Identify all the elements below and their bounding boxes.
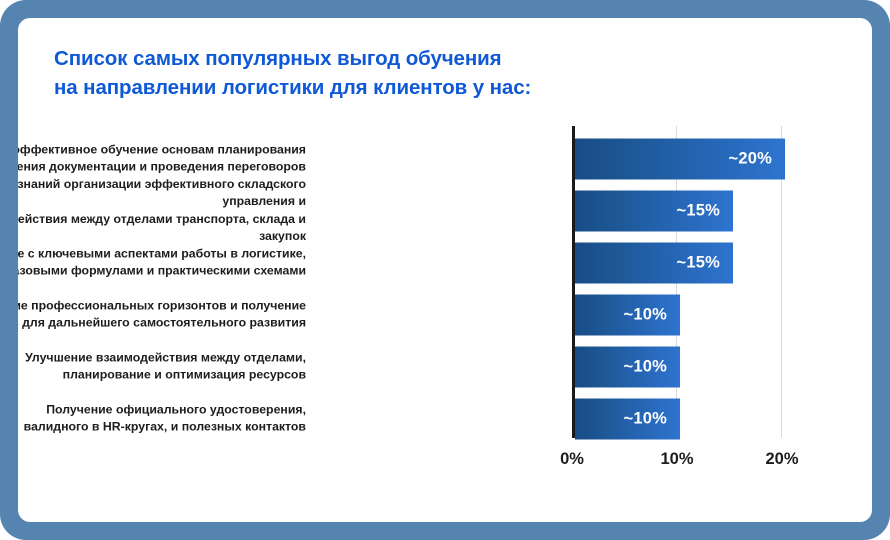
bar-category-label-line-2: планирование и оптимизация ресурсов	[63, 368, 306, 382]
bar-category-label-line-1: Ознакомление с ключевыми аспектами работ…	[18, 247, 306, 261]
x-tick-20: 20%	[765, 450, 798, 469]
chart-row: Получение официального удостоверения, ва…	[18, 393, 872, 445]
bar[interactable]: ~15%	[575, 243, 733, 284]
bar-category-label-line-2: валидного в HR-кругах, и полезных контак…	[24, 420, 306, 434]
page-title-line-2: на направлении логистики для клиентов у …	[54, 73, 754, 102]
bar-category-label-line-2: материалов для дальнейшего самостоятельн…	[18, 316, 306, 330]
chart-row: Получение знаний организации эффективног…	[18, 185, 872, 237]
bar[interactable]: ~15%	[575, 191, 733, 232]
slide-frame: Список самых популярных выгод обучения н…	[0, 0, 890, 540]
bar-value-label: ~10%	[624, 410, 680, 429]
bar-category-label-line-1: Получение официального удостоверения,	[46, 403, 306, 417]
bar-value-label: ~15%	[677, 202, 733, 221]
bar-category-label: Улучшение взаимодействия между отделами,…	[18, 350, 306, 385]
bar-value-label: ~15%	[677, 254, 733, 273]
bar-value-label: ~10%	[624, 358, 680, 377]
bar[interactable]: ~20%	[575, 139, 785, 180]
chart-row: Ознакомление с ключевыми аспектами работ…	[18, 237, 872, 289]
x-tick-0: 0%	[560, 450, 584, 469]
chart-row: Улучшение взаимодействия между отделами,…	[18, 341, 872, 393]
bar-value-label: ~10%	[624, 306, 680, 325]
bar-category-label-line-1: Получение знаний организации эффективног…	[18, 177, 306, 208]
bar-category-label-line-2: закупок, ведения документации и проведен…	[18, 160, 306, 174]
bar-category-label: Ознакомление с ключевыми аспектами работ…	[18, 246, 306, 281]
page-title: Список самых популярных выгод обучения н…	[54, 44, 754, 102]
bar[interactable]: ~10%	[575, 295, 680, 336]
bar-category-label: Быстрое и эффективное обучение основам п…	[18, 142, 306, 177]
bar-category-label: Получение знаний организации эффективног…	[18, 176, 306, 246]
bar-category-label-line-1: Улучшение взаимодействия между отделами,	[25, 351, 306, 365]
bar-category-label: Получение официального удостоверения, ва…	[18, 402, 306, 437]
bar-category-label-line-2: базовыми формулами и практическими схема…	[18, 264, 306, 278]
chart-row: Расширение профессиональных горизонтов и…	[18, 289, 872, 341]
slide-card: Список самых популярных выгод обучения н…	[18, 18, 872, 522]
x-tick-10: 10%	[660, 450, 693, 469]
bar[interactable]: ~10%	[575, 347, 680, 388]
x-axis-ticks: 0% 10% 20%	[18, 442, 872, 482]
bar[interactable]: ~10%	[575, 399, 680, 440]
bar-value-label: ~20%	[729, 150, 785, 169]
bar-category-label: Расширение профессиональных горизонтов и…	[18, 298, 306, 333]
bar-category-label-line-1: Расширение профессиональных горизонтов и…	[18, 299, 306, 313]
bar-chart: Быстрое и эффективное обучение основам п…	[18, 122, 872, 512]
bar-category-label-line-1: Быстрое и эффективное обучение основам п…	[18, 143, 306, 157]
page-title-line-1: Список самых популярных выгод обучения	[54, 44, 754, 73]
